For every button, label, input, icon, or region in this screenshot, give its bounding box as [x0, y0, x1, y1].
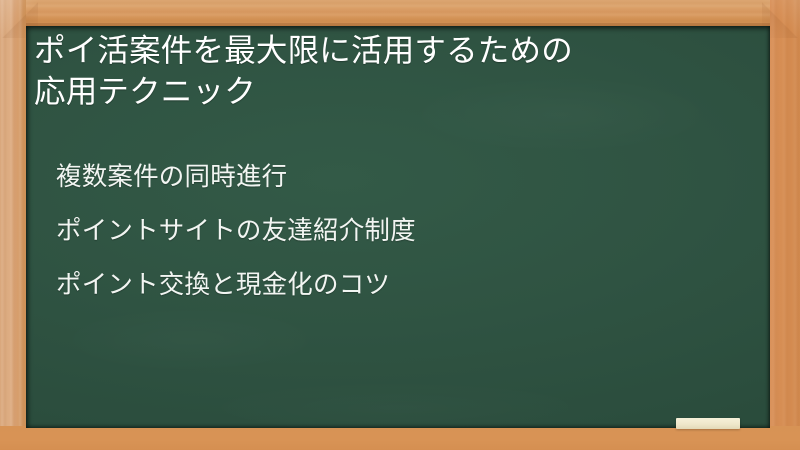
frame-rail-top: [0, 0, 800, 26]
chalk-stick-icon: [676, 418, 740, 429]
frame-rail-right: [770, 0, 800, 450]
frame-rail-left: [0, 0, 26, 450]
chalkboard-content: ポイ活案件を最大限に活用するための 応用テクニック 複数案件の同時進行 ポイント…: [26, 26, 770, 428]
frame-rail-bottom: [0, 426, 800, 450]
slide-title: ポイ活案件を最大限に活用するための 応用テクニック: [34, 30, 762, 112]
chalkboard-surface: ポイ活案件を最大限に活用するための 応用テクニック 複数案件の同時進行 ポイント…: [26, 26, 770, 428]
topic-list: 複数案件の同時進行 ポイントサイトの友達紹介制度 ポイント交換と現金化のコツ: [56, 150, 760, 312]
list-item: ポイントサイトの友達紹介制度: [56, 204, 760, 258]
chalkboard-slide: ポイ活案件を最大限に活用するための 応用テクニック 複数案件の同時進行 ポイント…: [0, 0, 800, 450]
list-item: ポイント交換と現金化のコツ: [56, 258, 760, 312]
list-item: 複数案件の同時進行: [56, 150, 760, 204]
